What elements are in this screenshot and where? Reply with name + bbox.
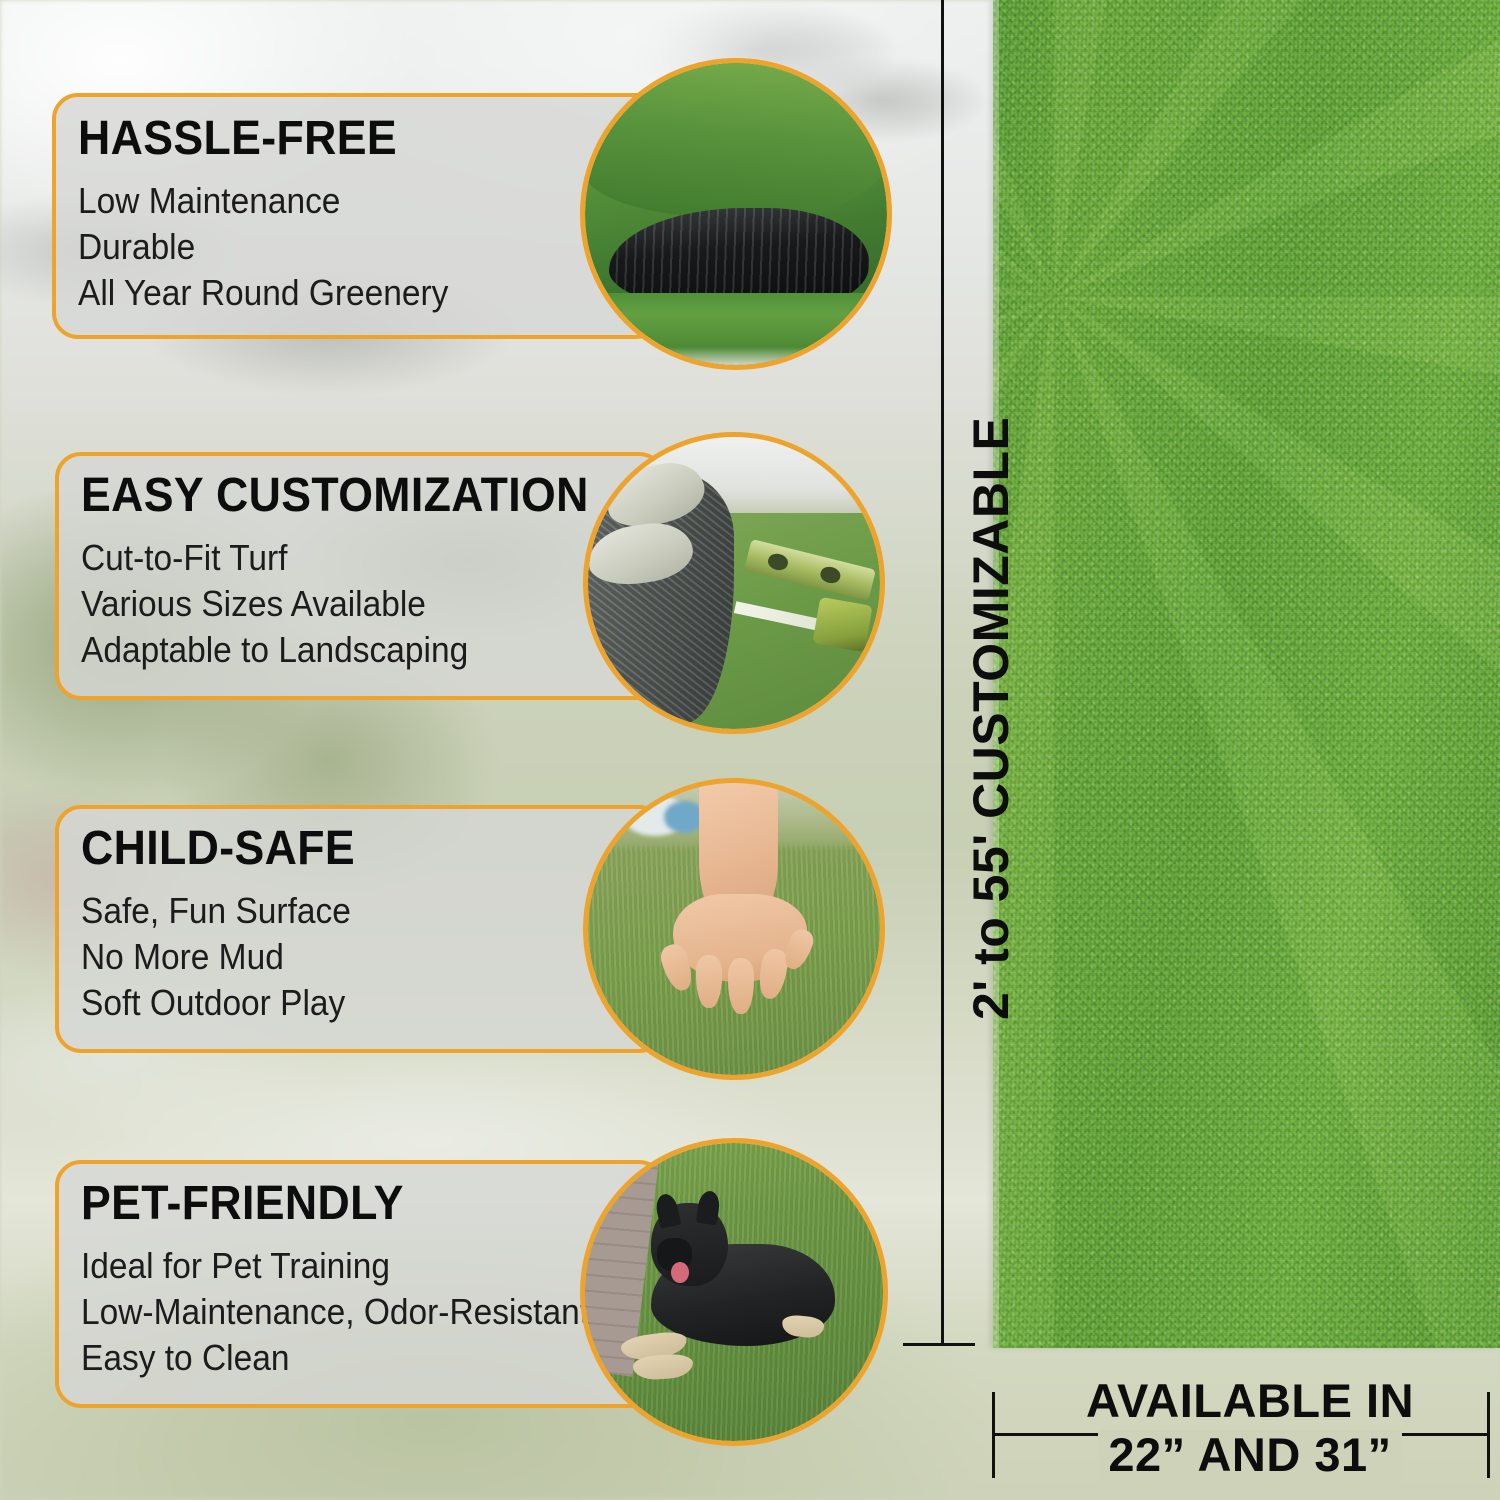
dog-lying-on-turf-photo (580, 1138, 888, 1446)
feature-title: CHILD-SAFE (81, 825, 620, 874)
length-dimension-label: 2' to 55' CUSTOMIZABLE (962, 417, 1020, 1020)
turf-roll-product-image (993, 0, 1500, 1348)
feature-line: Low Maintenance (78, 178, 617, 224)
child-hand-on-turf-photo (583, 778, 885, 1080)
feature-line: Safe, Fun Surface (81, 888, 620, 934)
feature-card-hassle-free: HASSLE-FREE Low Maintenance Durable All … (52, 93, 662, 339)
width-dimension-end-cap-left (992, 1392, 995, 1478)
turf-fold-backing-photo (580, 58, 892, 370)
feature-line: Ideal for Pet Training (81, 1243, 620, 1289)
length-dimension-end-cap (903, 1343, 975, 1346)
feature-title: PET-FRIENDLY (81, 1180, 620, 1229)
length-dimension-line (941, 0, 944, 1343)
gloved-hands-rolling-turf-photo (583, 432, 885, 734)
width-dimension-end-cap-right (1487, 1392, 1490, 1478)
feature-line: No More Mud (81, 934, 620, 980)
feature-line: Easy to Clean (81, 1335, 620, 1381)
feature-line: Adaptable to Landscaping (81, 627, 620, 673)
feature-line: Soft Outdoor Play (81, 980, 620, 1026)
available-sizes-label: 22” AND 31” (1098, 1430, 1401, 1481)
feature-title: EASY CUSTOMIZATION (81, 472, 620, 521)
feature-line: Durable (78, 224, 617, 270)
feature-line: Cut-to-Fit Turf (81, 535, 620, 581)
feature-card-easy-customization: EASY CUSTOMIZATION Cut-to-Fit Turf Vario… (55, 452, 665, 700)
feature-line: All Year Round Greenery (78, 270, 617, 316)
infographic-canvas: HASSLE-FREE Low Maintenance Durable All … (0, 0, 1500, 1500)
available-in-label: AVAILABLE IN (1076, 1376, 1424, 1427)
feature-line: Various Sizes Available (81, 581, 620, 627)
feature-card-pet-friendly: PET-FRIENDLY Ideal for Pet Training Low-… (55, 1160, 665, 1408)
feature-line: Low-Maintenance, Odor-Resistant (81, 1289, 620, 1335)
feature-card-child-safe: CHILD-SAFE Safe, Fun Surface No More Mud… (55, 805, 665, 1053)
feature-title: HASSLE-FREE (78, 115, 617, 164)
turf-texture-overlay (993, 0, 1500, 1348)
